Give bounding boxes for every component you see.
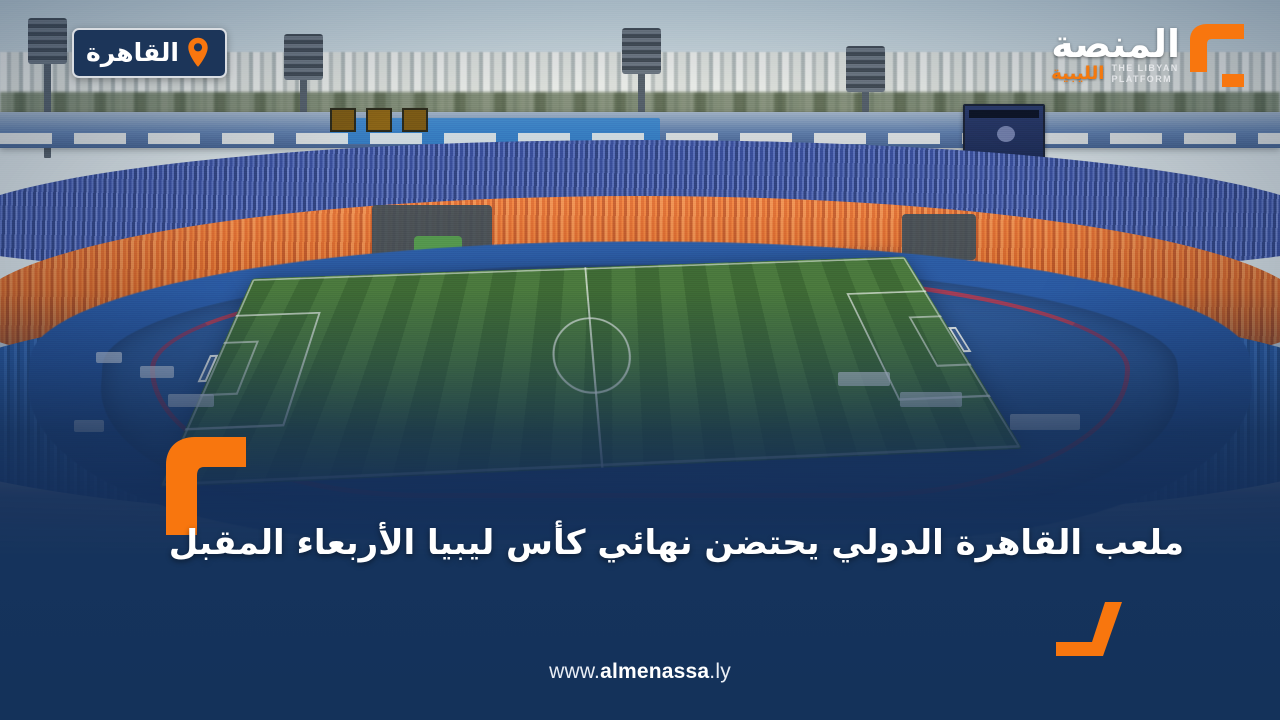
football-pitch xyxy=(159,257,1023,488)
site-url-suffix: .ly xyxy=(709,660,731,683)
trackside-equipment xyxy=(168,394,214,407)
location-badge-label: القاهرة xyxy=(86,40,179,65)
floodlight-mast xyxy=(300,34,307,120)
floodlight-mast xyxy=(862,46,869,112)
logo-arabic-primary: المنصة xyxy=(1051,26,1180,62)
trackside-equipment xyxy=(96,352,122,363)
site-url-brand: almenassa xyxy=(600,660,709,683)
trackside-equipment xyxy=(1010,414,1080,430)
logo-arabic-secondary: الليبية xyxy=(1051,65,1104,83)
facade-sign xyxy=(402,108,428,132)
site-url[interactable]: www.almenassa.ly xyxy=(0,660,1280,684)
orange-hook-small-icon xyxy=(1056,602,1122,656)
location-badge[interactable]: القاهرة xyxy=(72,28,227,78)
news-card: القاهرة المنصة THE LIBYAN PLATFORM الليب… xyxy=(0,0,1280,720)
logo-subline: THE LIBYAN PLATFORM الليبية xyxy=(1051,63,1178,83)
logo-latin-line1: THE LIBYAN xyxy=(1111,63,1178,73)
trackside-equipment xyxy=(140,366,174,378)
trackside-equipment xyxy=(900,392,962,407)
logo-latin-text: THE LIBYAN PLATFORM xyxy=(1111,63,1178,83)
center-circle xyxy=(552,316,637,395)
site-url-prefix: www. xyxy=(549,660,600,683)
headline-text: ملعب القاهرة الدولي يحتضن نهائي كأس ليبي… xyxy=(0,521,1280,566)
map-pin-icon xyxy=(187,37,209,67)
facade-sign xyxy=(330,108,356,132)
logo-wordmark: المنصة THE LIBYAN PLATFORM الليبية xyxy=(1051,22,1180,84)
trackside-equipment xyxy=(74,420,104,432)
facade-sign xyxy=(366,108,392,132)
logo-latin-line2: PLATFORM xyxy=(1111,74,1172,84)
logo-hook-mark xyxy=(1186,22,1248,88)
site-logo[interactable]: المنصة THE LIBYAN PLATFORM الليبية xyxy=(1051,22,1248,88)
trackside-equipment xyxy=(838,372,890,386)
floodlight-mast xyxy=(638,28,645,120)
